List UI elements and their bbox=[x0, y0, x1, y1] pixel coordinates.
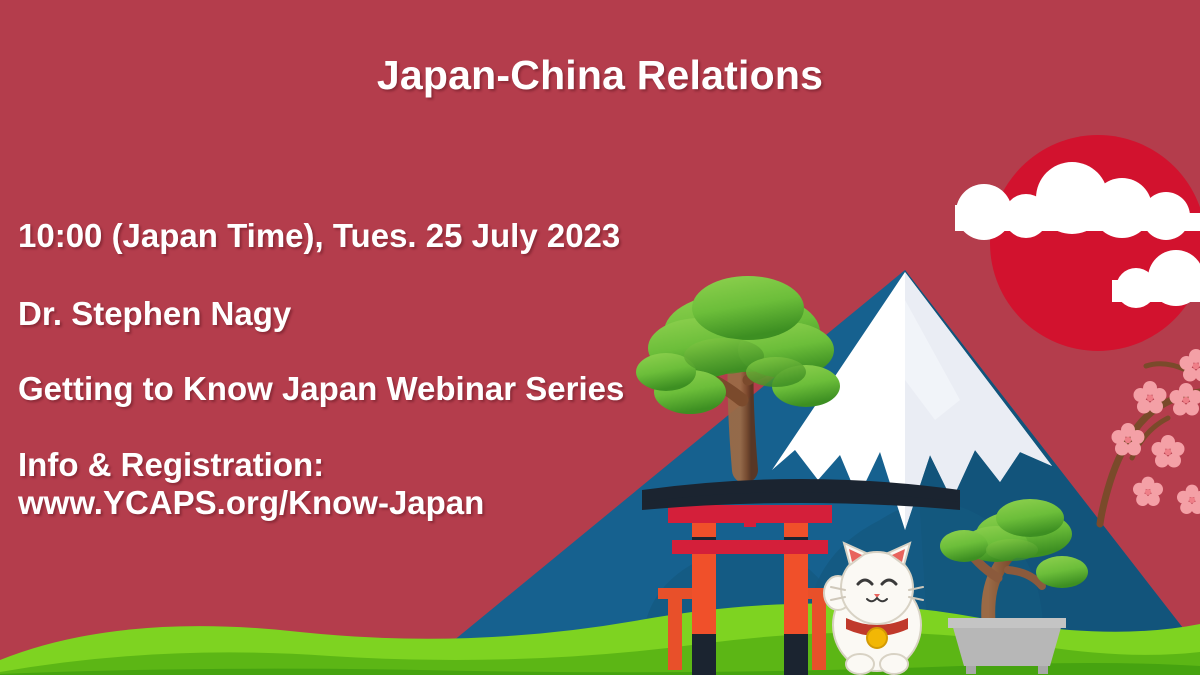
webinar-poster: Japan-China Relations 10:00 (Japan Time)… bbox=[0, 0, 1200, 675]
event-series: Getting to Know Japan Webinar Series bbox=[18, 371, 624, 407]
event-speaker: Dr. Stephen Nagy bbox=[18, 296, 624, 332]
event-details: 10:00 (Japan Time), Tues. 25 July 2023 D… bbox=[18, 218, 624, 520]
page-title: Japan-China Relations bbox=[0, 52, 1200, 99]
rising-sun-circle bbox=[990, 135, 1200, 351]
registration-url[interactable]: www.YCAPS.org/Know-Japan bbox=[18, 485, 624, 521]
event-datetime: 10:00 (Japan Time), Tues. 25 July 2023 bbox=[18, 218, 624, 254]
registration-label: Info & Registration: bbox=[18, 447, 624, 483]
